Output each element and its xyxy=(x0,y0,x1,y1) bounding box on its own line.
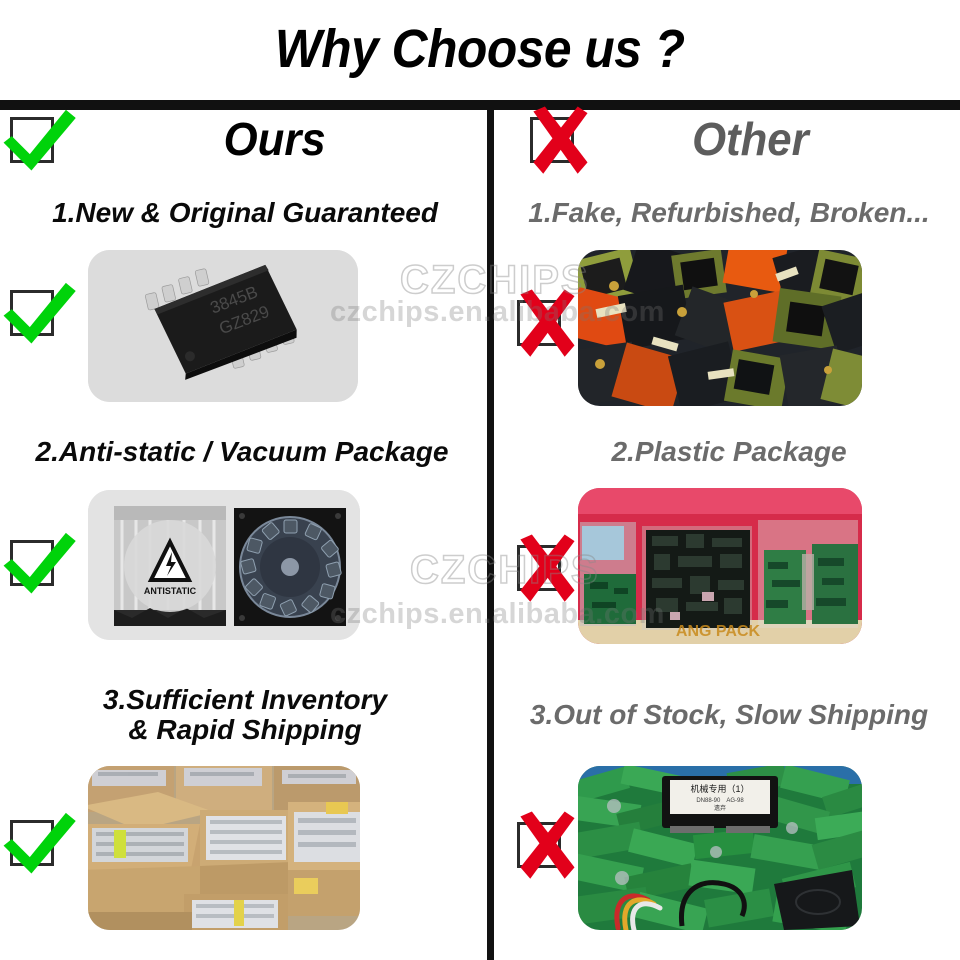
photo-other-3: 机械专用（1） DN88-90 AG-98 遗弃 xyxy=(578,766,862,930)
feature-label-other-3: 3.Out of Stock, Slow Shipping xyxy=(498,700,960,730)
cross-mark-box-row-2 xyxy=(517,545,561,591)
feature-label-ours-3-line1: 3.Sufficient Inventory xyxy=(20,685,470,715)
ic-chip-sop8-photo: 3845B GZ829 xyxy=(88,250,358,402)
close-icon xyxy=(504,528,586,610)
feature-label-ours-3-line2: & Rapid Shipping xyxy=(20,715,470,745)
svg-text:ANTISTATIC: ANTISTATIC xyxy=(144,586,197,596)
pcb-scrap-heap-photo: 机械专用（1） DN88-90 AG-98 遗弃 xyxy=(578,766,862,930)
column-header-other-label: Other xyxy=(692,112,809,166)
check-icon xyxy=(0,100,79,182)
check-mark-box-row-3 xyxy=(10,820,54,866)
close-icon xyxy=(504,283,586,365)
scrap-chips-pile-photo xyxy=(578,250,862,406)
photo-other-2: ANG PACK xyxy=(578,488,862,644)
column-divider xyxy=(487,110,494,960)
cross-mark-box-header xyxy=(530,117,574,163)
stocked-cartons-photo xyxy=(88,766,360,930)
feature-label-ours-3: 3.Sufficient Inventory & Rapid Shipping xyxy=(20,685,470,745)
svg-text:ANG PACK: ANG PACK xyxy=(676,623,761,640)
cross-mark-box-row-3 xyxy=(517,822,561,868)
feature-label-ours-1: 1.New & Original Guaranteed xyxy=(10,198,480,228)
check-mark-box-row-2 xyxy=(10,540,54,586)
close-icon xyxy=(517,100,599,182)
check-mark-box-row-1 xyxy=(10,290,54,336)
antistatic-bag-and-reel-photo: ANTISTATIC xyxy=(88,490,360,640)
close-icon xyxy=(504,805,586,887)
feature-label-other-1: 1.Fake, Refurbished, Broken... xyxy=(500,198,958,228)
photo-other-1 xyxy=(578,250,862,406)
svg-text:机械专用（1）: 机械专用（1） xyxy=(690,783,749,794)
photo-ours-2: ANTISTATIC xyxy=(88,490,360,640)
check-icon xyxy=(0,273,79,355)
check-icon xyxy=(0,523,79,605)
comparison-infographic: Why Choose us ? Ours Other 1.New & Origi… xyxy=(0,0,960,960)
cross-mark-box-row-1 xyxy=(517,300,561,346)
photo-ours-1: 3845B GZ829 xyxy=(88,250,358,402)
column-header-ours: Ours xyxy=(110,108,440,170)
page-title: Why Choose us ? xyxy=(0,18,960,80)
column-header-ours-label: Ours xyxy=(224,112,326,166)
feature-label-other-2: 2.Plastic Package xyxy=(500,437,958,467)
photo-ours-3 xyxy=(88,766,360,930)
svg-text:遗弃: 遗弃 xyxy=(714,804,726,812)
svg-text:DN88-90 AG-98: DN88-90 AG-98 xyxy=(696,798,744,804)
feature-label-ours-2: 2.Anti-static / Vacuum Package xyxy=(4,437,480,467)
check-icon xyxy=(0,803,79,885)
page-title-text: Why Choose us ? xyxy=(275,18,685,80)
column-header-other: Other xyxy=(600,108,900,170)
check-mark-box-header xyxy=(10,117,54,163)
plastic-bagged-pcb-photo: ANG PACK xyxy=(578,488,862,644)
